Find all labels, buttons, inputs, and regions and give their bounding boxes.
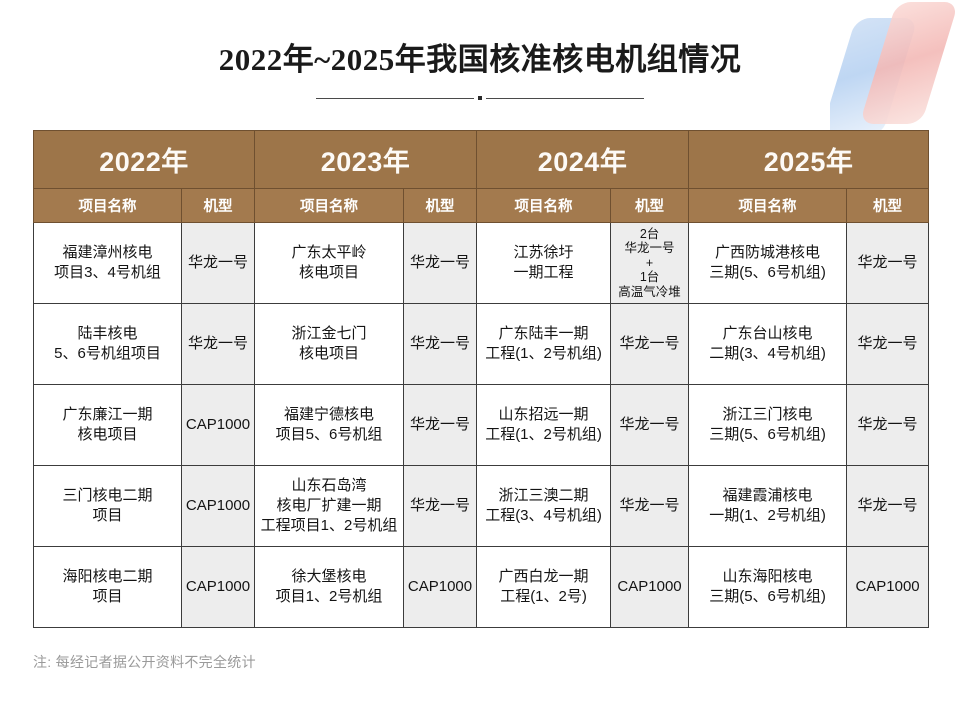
cell-line: 广西白龙一期 — [481, 567, 606, 587]
cell-line: CAP1000 — [184, 415, 252, 434]
cell-y2025-model: 华龙一号 — [847, 223, 929, 304]
cell-line: 三期(5、6号机组) — [693, 425, 842, 445]
year-header-2023: 2023年 — [255, 131, 477, 189]
cell-line: 1台 — [613, 270, 686, 284]
cell-line: 核电项目 — [259, 263, 399, 283]
cell-line: 2台 — [613, 227, 686, 241]
cell-y2022-model: 华龙一号 — [182, 223, 255, 304]
cell-line: 项目5、6号机组 — [259, 425, 399, 445]
cell-line: 江苏徐圩 — [481, 243, 606, 263]
cell-line: CAP1000 — [184, 577, 252, 596]
cell-line: 三门核电二期 — [38, 486, 177, 506]
cell-line: 核电项目 — [259, 344, 399, 364]
cell-line: 华龙一号 — [406, 496, 474, 515]
cell-line: 三期(5、6号机组) — [693, 263, 842, 283]
cell-line: 华龙一号 — [184, 334, 252, 353]
cell-line: 项目 — [38, 587, 177, 607]
cell-line: 一期(1、2号机组) — [693, 506, 842, 526]
cell-y2022-name: 三门核电二期项目 — [34, 466, 182, 547]
subheader-model-2023: 机型 — [404, 189, 477, 223]
cell-line: 华龙一号 — [849, 334, 926, 353]
table-row: 福建漳州核电项目3、4号机组华龙一号广东太平岭核电项目华龙一号江苏徐圩一期工程2… — [34, 223, 929, 304]
page-title-wrap: 2022年~2025年我国核准核电机组情况 — [0, 34, 960, 79]
subheader-name-2023: 项目名称 — [255, 189, 404, 223]
cell-line: 福建宁德核电 — [259, 405, 399, 425]
cell-y2024-model: 华龙一号 — [611, 466, 689, 547]
cell-line: CAP1000 — [406, 577, 474, 596]
cell-line: 二期(3、4号机组) — [693, 344, 842, 364]
table-row: 三门核电二期项目CAP1000山东石岛湾核电厂扩建一期工程项目1、2号机组华龙一… — [34, 466, 929, 547]
subheader-model-2025: 机型 — [847, 189, 929, 223]
table-row: 广东廉江一期核电项目CAP1000福建宁德核电项目5、6号机组华龙一号山东招远一… — [34, 385, 929, 466]
divider-dot — [478, 96, 482, 100]
table-body: 福建漳州核电项目3、4号机组华龙一号广东太平岭核电项目华龙一号江苏徐圩一期工程2… — [34, 223, 929, 628]
table-row: 陆丰核电5、6号机组项目华龙一号浙江金七门核电项目华龙一号广东陆丰一期工程(1、… — [34, 304, 929, 385]
year-header-2025: 2025年 — [689, 131, 929, 189]
cell-y2024-name: 浙江三澳二期工程(3、4号机组) — [477, 466, 611, 547]
cell-y2023-model: 华龙一号 — [404, 223, 477, 304]
cell-line: 浙江三澳二期 — [481, 486, 606, 506]
cell-y2022-name: 海阳核电二期项目 — [34, 547, 182, 628]
cell-y2025-model: 华龙一号 — [847, 385, 929, 466]
cell-y2022-model: CAP1000 — [182, 385, 255, 466]
subheader-name-2025: 项目名称 — [689, 189, 847, 223]
cell-line: 华龙一号 — [406, 334, 474, 353]
cell-line: 项目 — [38, 506, 177, 526]
cell-y2023-name: 广东太平岭核电项目 — [255, 223, 404, 304]
cell-y2022-name: 福建漳州核电项目3、4号机组 — [34, 223, 182, 304]
cell-line: 华龙一号 — [849, 253, 926, 272]
cell-line: 核电厂扩建一期 — [259, 496, 399, 516]
cell-line: 海阳核电二期 — [38, 567, 177, 587]
divider-bar-right — [486, 98, 644, 99]
cell-y2024-name: 广西白龙一期工程(1、2号) — [477, 547, 611, 628]
cell-line: 华龙一号 — [406, 253, 474, 272]
cell-line: 工程项目1、2号机组 — [259, 516, 399, 536]
cell-y2025-model: CAP1000 — [847, 547, 929, 628]
cell-y2025-name: 福建霞浦核电一期(1、2号机组) — [689, 466, 847, 547]
cell-line: 广东太平岭 — [259, 243, 399, 263]
cell-line: 华龙一号 — [613, 334, 686, 353]
infographic-page: 2022年~2025年我国核准核电机组情况 2022年 2023年 2024年 … — [0, 0, 960, 705]
page-title: 2022年~2025年我国核准核电机组情况 — [0, 34, 960, 79]
cell-line: 工程(1、2号机组) — [481, 344, 606, 364]
cell-line: 华龙一号 — [849, 496, 926, 515]
cell-line: 华龙一号 — [849, 415, 926, 434]
cell-line: 徐大堡核电 — [259, 567, 399, 587]
cell-line: 工程(3、4号机组) — [481, 506, 606, 526]
footer-note: 注: 每经记者据公开资料不完全统计 — [33, 652, 256, 672]
cell-line: 三期(5、6号机组) — [693, 587, 842, 607]
cell-y2025-model: 华龙一号 — [847, 304, 929, 385]
cell-y2024-model: 华龙一号 — [611, 385, 689, 466]
cell-line: 浙江三门核电 — [693, 405, 842, 425]
cell-y2025-name: 山东海阳核电三期(5、6号机组) — [689, 547, 847, 628]
cell-y2024-name: 广东陆丰一期工程(1、2号机组) — [477, 304, 611, 385]
cell-y2025-model: 华龙一号 — [847, 466, 929, 547]
cell-y2022-model: CAP1000 — [182, 466, 255, 547]
cell-line: 山东招远一期 — [481, 405, 606, 425]
cell-y2023-name: 山东石岛湾核电厂扩建一期工程项目1、2号机组 — [255, 466, 404, 547]
cell-line: 福建漳州核电 — [38, 243, 177, 263]
cell-line: 陆丰核电 — [38, 324, 177, 344]
cell-line: 福建霞浦核电 — [693, 486, 842, 506]
cell-y2023-model: 华龙一号 — [404, 304, 477, 385]
cell-y2023-name: 福建宁德核电项目5、6号机组 — [255, 385, 404, 466]
cell-line: 项目1、2号机组 — [259, 587, 399, 607]
cell-y2024-model: 华龙一号 — [611, 304, 689, 385]
cell-y2023-name: 浙江金七门核电项目 — [255, 304, 404, 385]
cell-y2025-name: 广西防城港核电三期(5、6号机组) — [689, 223, 847, 304]
year-header-2024: 2024年 — [477, 131, 689, 189]
cell-y2022-name: 陆丰核电5、6号机组项目 — [34, 304, 182, 385]
data-table-wrap: 2022年 2023年 2024年 2025年 项目名称 机型 项目名称 机型 … — [33, 130, 928, 628]
cell-line: 工程(1、2号) — [481, 587, 606, 607]
cell-y2025-name: 广东台山核电二期(3、4号机组) — [689, 304, 847, 385]
sub-header-row: 项目名称 机型 项目名称 机型 项目名称 机型 项目名称 机型 — [34, 189, 929, 223]
cell-y2023-name: 徐大堡核电项目1、2号机组 — [255, 547, 404, 628]
cell-y2024-model: CAP1000 — [611, 547, 689, 628]
cell-y2023-model: CAP1000 — [404, 547, 477, 628]
cell-line: 华龙一号 — [613, 496, 686, 515]
subheader-model-2022: 机型 — [182, 189, 255, 223]
cell-line: CAP1000 — [184, 496, 252, 515]
subheader-name-2024: 项目名称 — [477, 189, 611, 223]
cell-line: 核电项目 — [38, 425, 177, 445]
cell-y2024-model: 2台华龙一号+1台高温气冷堆 — [611, 223, 689, 304]
divider-bar-left — [316, 98, 474, 99]
cell-y2022-model: 华龙一号 — [182, 304, 255, 385]
cell-line: 广西防城港核电 — [693, 243, 842, 263]
title-divider — [0, 96, 960, 100]
cell-line: 华龙一号 — [613, 415, 686, 434]
cell-line: 高温气冷堆 — [613, 285, 686, 299]
cell-line: 浙江金七门 — [259, 324, 399, 344]
cell-line: 华龙一号 — [184, 253, 252, 272]
cell-line: 项目3、4号机组 — [38, 263, 177, 283]
cell-line: 华龙一号 — [613, 241, 686, 255]
cell-y2024-name: 山东招远一期工程(1、2号机组) — [477, 385, 611, 466]
cell-line: CAP1000 — [849, 577, 926, 596]
cell-line: CAP1000 — [613, 577, 686, 596]
cell-line: + — [613, 256, 686, 270]
cell-line: 广东陆丰一期 — [481, 324, 606, 344]
cell-line: 山东海阳核电 — [693, 567, 842, 587]
cell-line: 广东廉江一期 — [38, 405, 177, 425]
cell-line: 山东石岛湾 — [259, 476, 399, 496]
cell-line: 华龙一号 — [406, 415, 474, 434]
cell-y2023-model: 华龙一号 — [404, 385, 477, 466]
cell-y2025-name: 浙江三门核电三期(5、6号机组) — [689, 385, 847, 466]
cell-line: 一期工程 — [481, 263, 606, 283]
cell-line: 5、6号机组项目 — [38, 344, 177, 364]
cell-y2024-name: 江苏徐圩一期工程 — [477, 223, 611, 304]
year-header-2022: 2022年 — [34, 131, 255, 189]
cell-y2022-model: CAP1000 — [182, 547, 255, 628]
year-header-row: 2022年 2023年 2024年 2025年 — [34, 131, 929, 189]
cell-line: 广东台山核电 — [693, 324, 842, 344]
cell-y2023-model: 华龙一号 — [404, 466, 477, 547]
cell-y2022-name: 广东廉江一期核电项目 — [34, 385, 182, 466]
cell-line: 工程(1、2号机组) — [481, 425, 606, 445]
subheader-model-2024: 机型 — [611, 189, 689, 223]
subheader-name-2022: 项目名称 — [34, 189, 182, 223]
table-row: 海阳核电二期项目CAP1000徐大堡核电项目1、2号机组CAP1000广西白龙一… — [34, 547, 929, 628]
nuclear-approvals-table: 2022年 2023年 2024年 2025年 项目名称 机型 项目名称 机型 … — [33, 130, 929, 628]
